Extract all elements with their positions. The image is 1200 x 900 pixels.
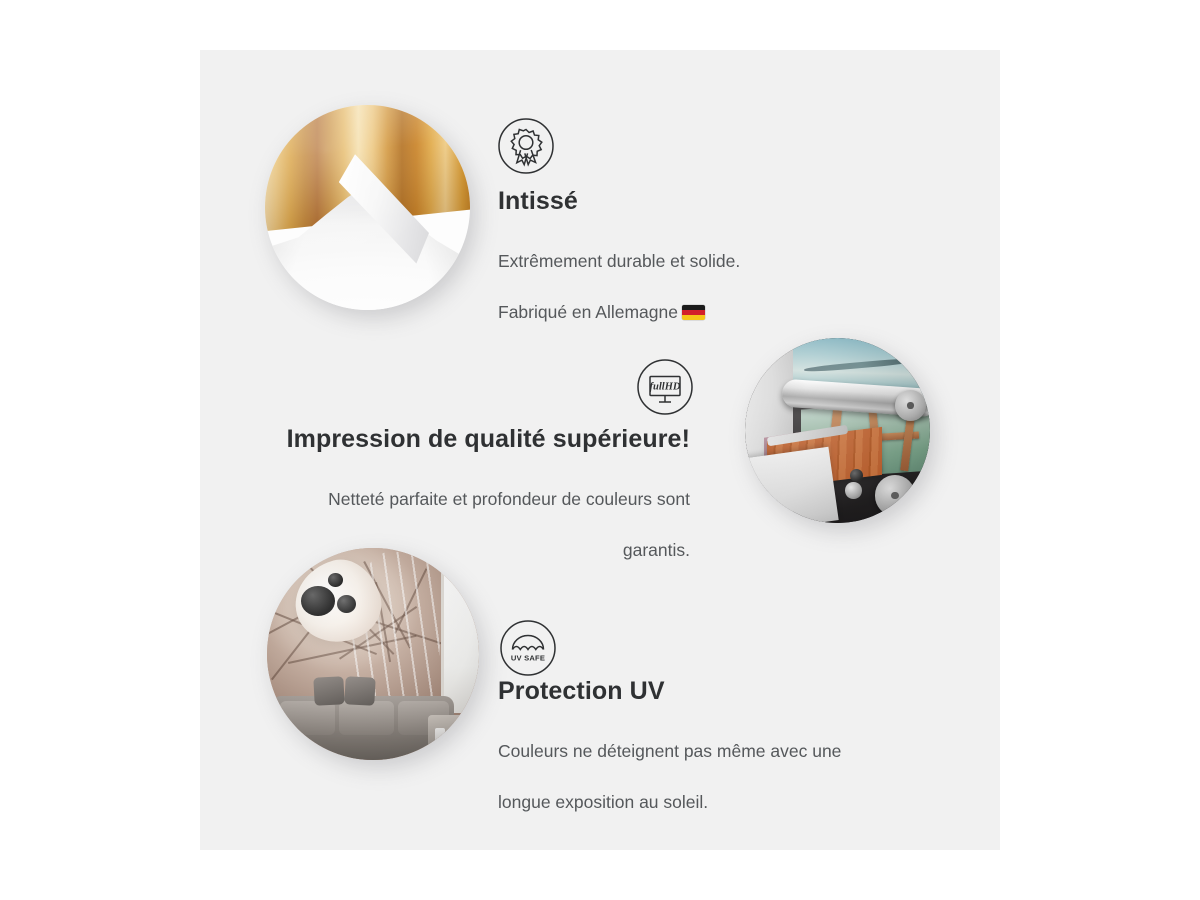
feature-title: Protection UV — [498, 676, 898, 706]
feature-description-line-1: Couleurs ne déteignent pas même avec une — [498, 741, 841, 761]
feature-title: Intissé — [498, 186, 828, 216]
feature-description-line-2: longue exposition au soleil. — [498, 792, 708, 812]
svg-text:UV SAFE: UV SAFE — [511, 654, 545, 663]
feature-description-line-1: Extrêmement durable et solide. — [498, 251, 740, 271]
feature-impression: Impression de qualité supérieure! Nettet… — [285, 424, 690, 564]
feature-description-line-1: Netteté parfaite et profondeur de couleu… — [328, 489, 690, 509]
large-format-printer-image — [745, 338, 930, 523]
uv-safe-umbrella-icon: UV SAFE — [499, 619, 557, 677]
infographic-stage: Intissé Extrêmement durable et solide. F… — [0, 0, 1200, 900]
fullhd-monitor-icon: fullHD — [636, 358, 694, 416]
living-room-geometric-mural-image — [267, 548, 479, 760]
svg-text:fullHD: fullHD — [650, 382, 681, 393]
award-rosette-icon — [497, 117, 555, 175]
feature-title: Impression de qualité supérieure! — [285, 424, 690, 454]
german-flag-icon — [682, 305, 705, 320]
feature-description: Couleurs ne déteignent pas même avec une… — [498, 714, 898, 816]
feature-description: Extrêmement durable et solide. Fabriqué … — [498, 224, 828, 326]
feature-protection-uv: Protection UV Couleurs ne déteignent pas… — [498, 676, 898, 816]
feature-description-line-2: garantis. — [623, 540, 690, 560]
wallpaper-roll-peeled-corner-image — [265, 105, 470, 310]
feature-description-line-2: Fabriqué en Allemagne — [498, 302, 678, 322]
feature-intisse: Intissé Extrêmement durable et solide. F… — [498, 186, 828, 326]
